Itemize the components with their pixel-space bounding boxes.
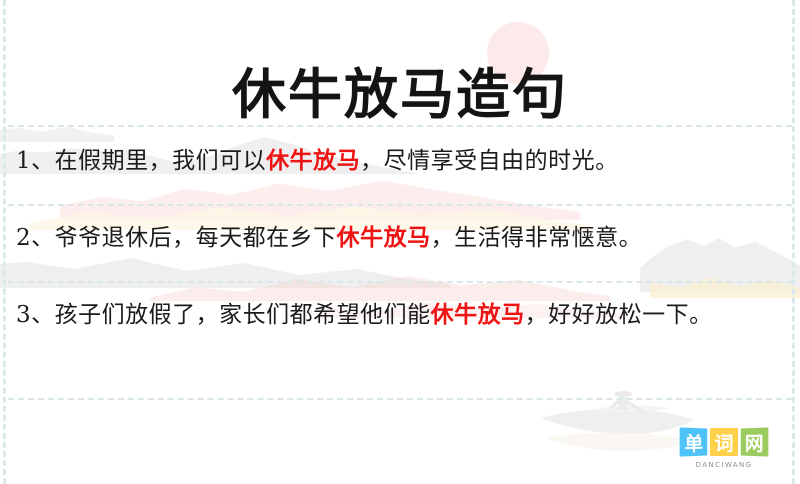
sentence-text-after-1: ，尽情享受自由的时光。 xyxy=(360,148,619,174)
sentence-list: 1、在假期里，我们可以休牛放马，尽情享受自由的时光。 2、爷爷退休后，每天都在乡… xyxy=(16,142,786,334)
guide-line-horizontal-4 xyxy=(8,398,792,400)
logo-tile-3: 网 xyxy=(741,427,769,456)
sentence-number-1: 1、 xyxy=(16,148,55,174)
slide-canvas: 休牛放马造句 1、在假期里，我们可以休牛放马，尽情享受自由的时光。 2、爷爷退休… xyxy=(0,0,800,484)
idiom-highlight-2: 休牛放马 xyxy=(337,224,431,251)
sentence-item-1: 1、在假期里，我们可以休牛放马，尽情享受自由的时光。 xyxy=(16,142,786,180)
page-title: 休牛放马造句 xyxy=(0,62,800,126)
sentence-item-3: 3、孩子们放假了，家长们都希望他们能休牛放马，好好放松一下。 xyxy=(16,296,786,334)
logo-tiles: 单 词 网 xyxy=(676,426,772,456)
logo-tile-1: 单 xyxy=(680,427,708,456)
logo-caption: DANCIWANG xyxy=(676,461,772,469)
sentence-text-before-2: 爷爷退休后，每天都在乡下 xyxy=(55,225,337,251)
sentence-item-2: 2、爷爷退休后，每天都在乡下休牛放马，生活得非常惬意。 xyxy=(16,219,786,257)
sentence-number-3: 3、 xyxy=(16,302,55,328)
idiom-highlight-3: 休牛放马 xyxy=(431,301,525,328)
sentence-text-after-2: ，生活得非常惬意。 xyxy=(431,225,643,251)
site-logo[interactable]: 单 词 网 DANCIWANG xyxy=(676,426,772,469)
idiom-highlight-1: 休牛放马 xyxy=(266,147,360,174)
sentence-text-before-3: 孩子们放假了，家长们都希望他们能 xyxy=(55,302,431,328)
sentence-text-before-1: 在假期里，我们可以 xyxy=(55,148,267,174)
sentence-text-after-3: ，好好放松一下。 xyxy=(525,302,713,328)
sentence-number-2: 2、 xyxy=(16,225,55,251)
logo-tile-2: 词 xyxy=(710,428,738,456)
